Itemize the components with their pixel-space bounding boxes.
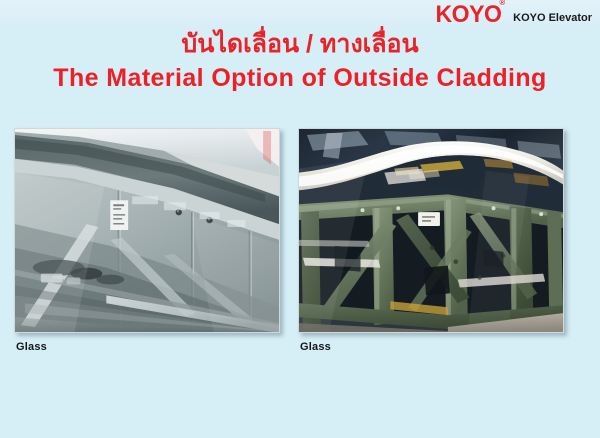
photo-right — [298, 128, 564, 333]
registered-trademark-icon: ® — [500, 0, 505, 7]
header-band: KOYO® KOYO Elevator — [0, 0, 600, 31]
koyo-logo-text: KOYO — [436, 1, 502, 28]
title-block: บันไดเลื่อน / ทางเลื่อน The Material Opt… — [0, 28, 600, 95]
photo-right-image — [299, 129, 563, 332]
koyo-logo: KOYO® — [436, 3, 507, 27]
photo-left — [14, 128, 280, 333]
photo-right-artwork — [299, 129, 563, 332]
page-title-thai: บันไดเลื่อน / ทางเลื่อน — [0, 28, 600, 60]
photo-left-artwork — [15, 129, 279, 332]
page-title-english: The Material Option of Outside Cladding — [0, 62, 600, 95]
brand-lockup: KOYO® KOYO Elevator — [434, 3, 592, 27]
brand-name-label: KOYO Elevator — [513, 13, 592, 24]
photo-left-image — [15, 129, 279, 332]
caption-photo-left: Glass — [16, 341, 47, 353]
caption-photo-right: Glass — [300, 341, 331, 353]
